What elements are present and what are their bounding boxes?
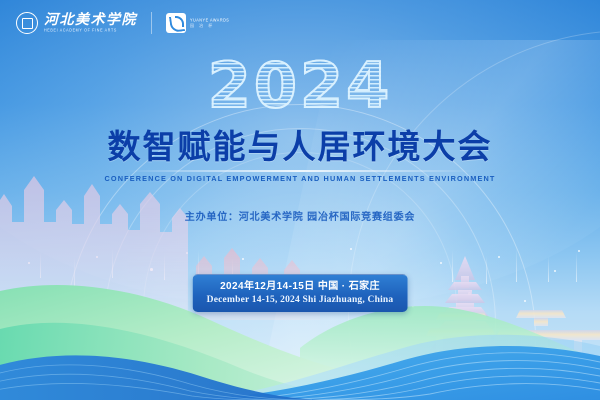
academy-name-en: HEBEI ACADEMY OF FINE ARTS	[44, 29, 137, 33]
organizer-line: 主办单位：河北美术学院 园冶杯国际竞赛组委会	[0, 208, 600, 223]
logo-divider	[151, 12, 152, 34]
conference-poster: 河北美术学院 HEBEI ACADEMY OF FINE ARTS YUANYE…	[0, 0, 600, 400]
conference-title-en: CONFERENCE ON DIGITAL EMPOWERMENT AND HU…	[0, 174, 600, 183]
header-logos: 河北美术学院 HEBEI ACADEMY OF FINE ARTS YUANYE…	[16, 12, 229, 34]
yuanye-award-icon	[166, 13, 186, 33]
award-name-en: YUANYE AWARDS	[190, 18, 229, 23]
logo-yuanye-awards[interactable]: YUANYE AWARDS 园 冶 杯	[166, 13, 229, 33]
award-name-cn: 园 冶 杯	[190, 24, 229, 28]
date-location-cn: 2024年12月14-15日 中国 · 石家庄	[207, 280, 394, 294]
academy-seal-icon	[16, 12, 38, 34]
title-divider-rule	[124, 170, 476, 172]
conference-title-cn: 数智赋能与人居环境大会	[0, 128, 600, 166]
logo-hebei-academy[interactable]: 河北美术学院 HEBEI ACADEMY OF FINE ARTS	[16, 12, 137, 34]
academy-name-cn: 河北美术学院	[44, 14, 137, 28]
date-location-en: December 14-15, 2024 Shi Jiazhuang, Chin…	[207, 294, 394, 307]
year-headline: 2024	[0, 55, 600, 117]
date-location-badge: 2024年12月14-15日 中国 · 石家庄 December 14-15, …	[193, 274, 408, 312]
